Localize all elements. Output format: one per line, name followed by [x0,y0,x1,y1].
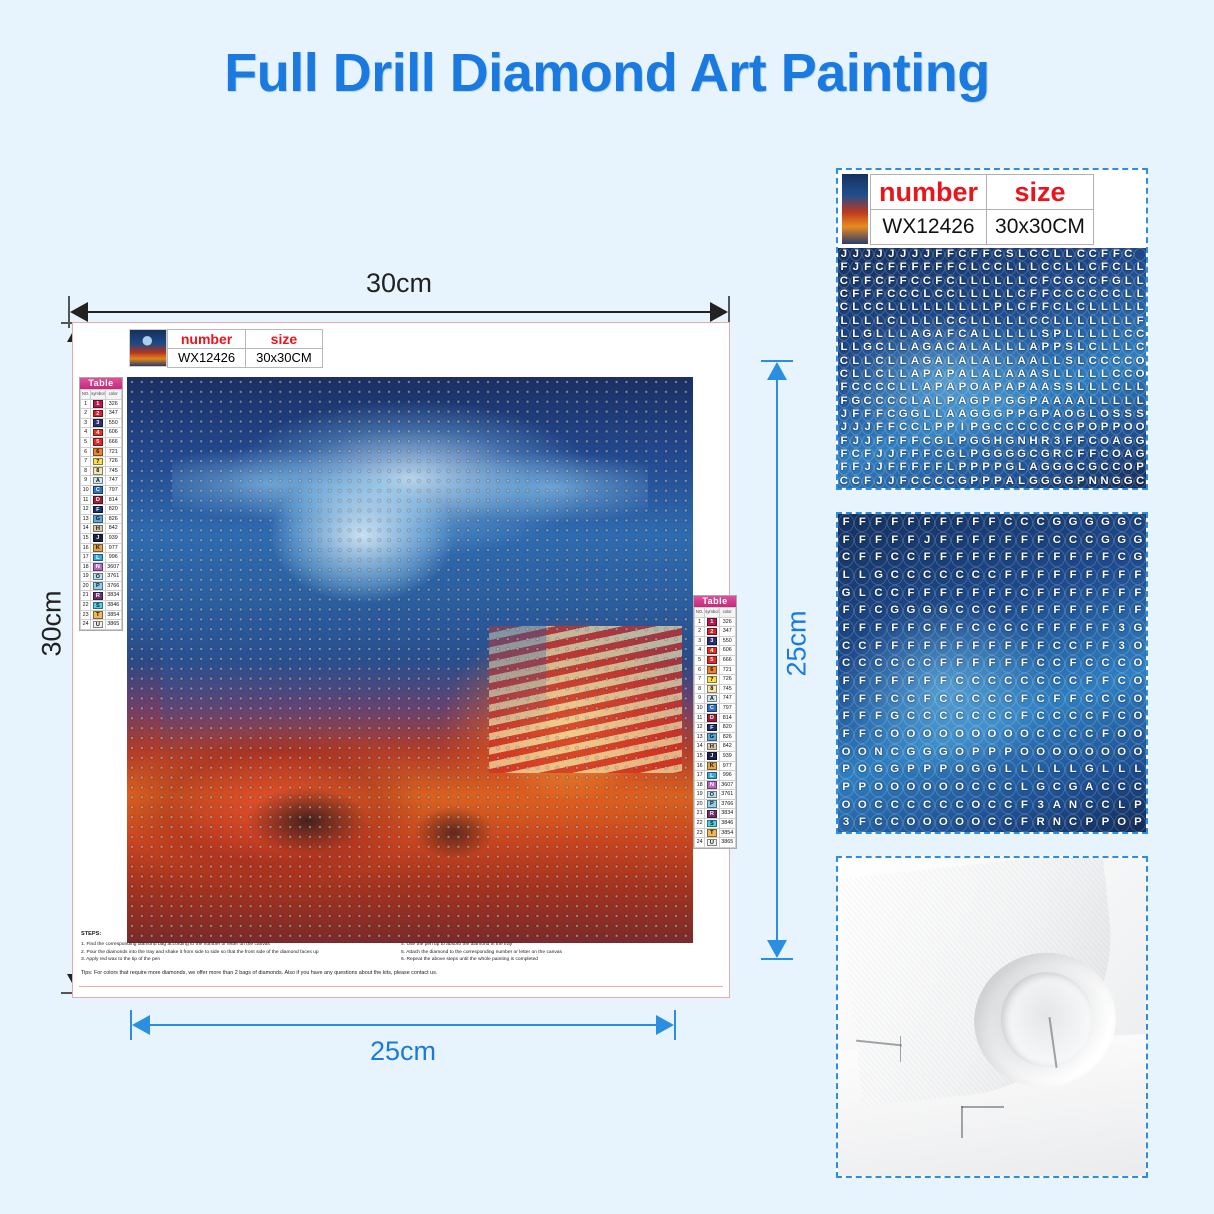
canvas-symbol-cell: C [1099,355,1111,368]
canvas-symbol-cell: P [1110,421,1122,434]
canvas-symbol-cell: F [838,514,854,532]
canvas-symbol-cell: F [921,461,933,474]
canvas-symbol-cell: C [984,797,1000,815]
canvas-symbol-cell: F [903,585,919,603]
canvas-symbol-cell: L [921,421,933,434]
legend-body-right: NO.symbolcolor11326223473355044606556666… [695,608,736,848]
canvas-symbol-cell: C [1033,673,1049,691]
canvas-symbol-cell: F [968,655,984,673]
legend-symbol-chip: L [93,554,103,562]
canvas-symbol-cell: O [870,779,886,797]
canvas-symbol-cell: P [1130,814,1146,832]
legend-symbol: 3 [91,418,105,428]
canvas-symbol-cell: 3 [1114,620,1130,638]
canvas-symbol-cell: A [956,355,968,368]
canvas-seam [900,1036,902,1061]
canvas-symbol-cell: F [951,585,967,603]
arrow-down-icon [767,940,787,958]
canvas-symbol-cell: F [854,532,870,550]
canvas-symbol-cell: C [1000,620,1016,638]
canvas-symbol-cell: L [1016,461,1028,474]
canvas-symbol-cell: P [854,779,870,797]
canvas-symbol-cell: F [1097,638,1113,656]
canvas-symbol-cell: C [903,708,919,726]
legend-symbol-chip: S [93,602,103,610]
legend-symbol: U [705,838,719,848]
product-info-table-large: number size WX12426 30x30CM [870,174,1094,245]
canvas-symbol-cell: O [968,726,984,744]
canvas-symbol-cell: O [1134,355,1146,368]
canvas-symbol-cell: F [838,726,854,744]
canvas-symbol-cell: C [1049,708,1065,726]
legend-no: 24 [81,620,91,630]
legend-symbol-chip: 7 [707,676,717,684]
canvas-symbol-cell: C [1016,421,1028,434]
legend-no: 2 [81,409,91,419]
canvas-symbol-cell: F [838,691,854,709]
canvas-symbol-cell: G [1087,461,1099,474]
legend-symbol-chip: F [93,506,103,514]
canvas-symbol-cell: N [870,744,886,762]
canvas-symbol-cell: G [870,761,886,779]
canvas-symbol-cell: P [992,475,1004,488]
canvas-symbol-cell: O [854,744,870,762]
legend-row: 55666 [695,655,736,665]
canvas-symbol-cell: L [968,355,980,368]
legend-no: 8 [81,466,91,476]
legend-row: 11326 [81,399,122,409]
legend-column-header: symbol [705,608,719,618]
legend-symbol: K [91,543,105,553]
canvas-symbol-cell: C [909,421,921,434]
canvas-symbol-cell: L [1110,315,1122,328]
canvas-symbol-cell: C [1097,797,1113,815]
arrow-left-icon [132,1015,150,1035]
canvas-symbol-cell: F [1097,726,1113,744]
canvas-symbol-cell: O [1122,421,1134,434]
canvas-symbol-cell: C [1097,655,1113,673]
canvas-symbol-cell: C [887,549,903,567]
legend-symbol: G [705,732,719,742]
canvas-symbol-cell: L [1114,761,1130,779]
legend-row: 24U3865 [81,620,122,630]
canvas-symbol-cell: L [968,261,980,274]
dimension-outer-height-label: 30cm [37,564,68,684]
canvas-symbol-cell: C [1028,275,1040,288]
canvas-symbol-cell: O [1033,744,1049,762]
canvas-symbol-cell: F [1000,602,1016,620]
canvas-symbol-cell: L [992,328,1004,341]
legend-color-code: 3854 [719,828,736,838]
canvas-symbol-cell: F [887,514,903,532]
canvas-symbol-cell: C [984,673,1000,691]
canvas-symbol-cell: L [850,315,862,328]
canvas-symbol-cell: P [956,461,968,474]
legend-symbol: 2 [705,627,719,637]
canvas-symbol-cell: A [1051,408,1063,421]
detail-panel-blank-canvas [836,856,1148,1178]
table-value-size: 30x30CM [987,209,1094,244]
canvas-symbol-cell: F [887,532,903,550]
canvas-symbol-cell: L [885,355,897,368]
canvas-symbol-cell: C [1087,288,1099,301]
canvas-symbol-cell: C [870,726,886,744]
legend-color-code: 3834 [105,591,122,601]
canvas-symbol-cell: P [1097,814,1113,832]
canvas-symbol-cell: P [935,761,951,779]
instruction-step: 6. Repeat the above steps until the whol… [401,956,721,963]
canvas-symbol-cell: L [921,288,933,301]
canvas-symbol-cell: P [1081,814,1097,832]
canvas-symbol-cell: F [885,461,897,474]
legend-no: 15 [695,751,705,761]
canvas-symbol-cell: C [1081,726,1097,744]
canvas-symbol-cell: A [1075,395,1087,408]
canvas-symbol-cell: G [1134,435,1146,448]
canvas-symbol-cell: L [897,381,909,394]
canvas-symbol-cell: F [1033,549,1049,567]
canvas-symbol-cell: L [1063,328,1075,341]
canvas-symbol-cell: F [838,673,854,691]
canvas-symbol-cell: I [956,421,968,434]
canvas-symbol-cell: P [968,475,980,488]
legend-symbol-chip: J [707,752,717,760]
legend-color-code: 814 [719,713,736,723]
legend-symbol: 6 [705,665,719,675]
dimension-outer-width: 30cm [68,268,730,330]
legend-symbol-chip: 3 [93,419,103,427]
canvas-symbol-cell: L [909,301,921,314]
canvas-symbol-cell: F [1049,602,1065,620]
canvas-symbol-cell: J [850,261,862,274]
canvas-symbol-cell: L [980,301,992,314]
canvas-symbol-cell: C [1122,328,1134,341]
canvas-symbol-cell: S [1039,368,1051,381]
canvas-symbol-cell: C [1033,655,1049,673]
canvas-symbol-cell: C [1130,779,1146,797]
canvas-symbol-cell: A [1028,381,1040,394]
legend-row: 18N3607 [695,780,736,790]
canvas-symbol-cell: O [1130,691,1146,709]
canvas-symbol-cell: O [1130,744,1146,762]
legend-symbol-chip: 1 [707,618,717,626]
legend-color-code: 977 [105,543,122,553]
legend-row: 11D814 [695,713,736,723]
canvas-symbol-cell: L [1099,328,1111,341]
canvas-symbol-cell: A [933,328,945,341]
canvas-symbol-cell: L [1110,341,1122,354]
canvas-symbol-cell: F [1114,585,1130,603]
canvas-symbol-cell: L [1134,381,1146,394]
canvas-symbol-cell: C [935,691,951,709]
canvas-symbol-cell: O [1114,814,1130,832]
table-value-number: WX12426 [871,209,987,244]
canvas-symbol-cell: L [1016,248,1028,261]
canvas-symbol-cell: L [921,301,933,314]
canvas-symbol-cell: C [984,814,1000,832]
canvas-symbol-cell: F [854,814,870,832]
canvas-symbol-cell: C [1028,448,1040,461]
canvas-symbol-cell: F [1097,708,1113,726]
legend-symbol: F [91,505,105,515]
canvas-symbol-cell: L [862,368,874,381]
canvas-symbol-cell: O [1110,448,1122,461]
arrow-right-icon [656,1015,674,1035]
canvas-symbol-cell: C [1065,638,1081,656]
canvas-symbol-cell: F [1097,602,1113,620]
canvas-symbol-cell: C [874,341,886,354]
legend-symbol-chip: T [93,611,103,619]
legend-symbol-chip: 4 [707,647,717,655]
canvas-symbol-cell: L [850,341,862,354]
canvas-symbol-cell: F [1065,691,1081,709]
product-info-table: number size WX12426 30x30CM [167,329,323,368]
canvas-symbol-cell: L [1099,301,1111,314]
canvas-symbol-cell: F [935,638,951,656]
canvas-symbol-cell: G [870,567,886,585]
legend-title: Table [694,596,736,607]
dimension-line [140,1024,666,1026]
canvas-symbol-cell: L [1099,315,1111,328]
canvas-symbol-cell: C [1134,475,1146,488]
canvas-symbol-cell: S [1122,408,1134,421]
canvas-symbol-cell: C [885,381,897,394]
canvas-symbol-cell: C [1000,673,1016,691]
canvas-symbol-cell: G [1039,475,1051,488]
canvas-symbol-cell: F [1033,532,1049,550]
canvas-symbol-cell: F [1049,585,1065,603]
canvas-symbol-cell: P [945,421,957,434]
canvas-symbol-cell: G [887,761,903,779]
canvas-symbol-cell: G [1114,514,1130,532]
canvas-symbol-cell: C [919,655,935,673]
canvas-symbol-cell: C [909,288,921,301]
canvas-symbol-cell: F [1000,585,1016,603]
legend-no: 7 [81,457,91,467]
canvas-symbol-cell: L [1065,761,1081,779]
legend-symbol: O [91,572,105,582]
dimension-canvas-height-label: 25cm [782,589,813,699]
legend-row: 23T3854 [81,610,122,620]
canvas-symbol-cell: C [887,814,903,832]
legend-table: NO.symbolcolor11326223473355044606556666… [694,607,736,848]
canvas-symbol-cell: P [903,761,919,779]
canvas-symbol-cell: G [1130,620,1146,638]
legend-no: 17 [81,553,91,563]
canvas-symbol-cell: C [1016,585,1032,603]
canvas-symbol-cell: L [945,301,957,314]
canvas-symbol-cell: F [1065,567,1081,585]
canvas-symbol-cell: C [862,381,874,394]
canvas-symbol-cell: F [951,549,967,567]
canvas-symbol-cell: F [935,514,951,532]
legend-row: 44606 [81,428,122,438]
legend-symbol-chip: H [707,743,717,751]
canvas-symbol-cell: F [1081,585,1097,603]
legend-color-code: 996 [719,771,736,781]
canvas-symbol-cell: F [919,549,935,567]
canvas-symbol-cell: G [1028,475,1040,488]
dimension-line [78,311,720,313]
canvas-symbol-cell: C [1081,797,1097,815]
canvas-symbol-cell: L [885,328,897,341]
legend-symbol-chip: G [707,733,717,741]
canvas-symbol-cell: L [1134,261,1146,274]
legend-row: 13G826 [695,732,736,742]
legend-symbol-chip: 8 [93,467,103,475]
canvas-symbol-cell: P [956,381,968,394]
canvas-symbol-cell: L [980,275,992,288]
canvas-symbol-cell: C [1134,328,1146,341]
canvas-symbol-cell: C [1097,779,1113,797]
legend-no: 4 [81,428,91,438]
canvas-symbol-cell: C [903,567,919,585]
canvas-symbol-cell: O [887,726,903,744]
canvas-symbol-cell: L [1004,355,1016,368]
canvas-symbol-cell: C [945,288,957,301]
canvas-symbol-cell: L [1099,368,1111,381]
canvas-symbol-cell: N [1016,435,1028,448]
canvas-symbol-cell: F [909,435,921,448]
canvas-symbol-cell: C [921,275,933,288]
legend-row: 13G826 [81,514,122,524]
steps-list-left: 1. Find the corresponding diamond bag ac… [81,941,401,963]
canvas-symbol-cell: A [956,368,968,381]
canvas-symbol-cell: C [1016,620,1032,638]
canvas-symbol-cell: F [1081,567,1097,585]
canvas-symbol-cell: F [870,638,886,656]
legend-symbol-chip: 1 [93,400,103,408]
canvas-symbol-cell: F [885,435,897,448]
legend-symbol-chip: R [93,592,103,600]
canvas-symbol-cell: L [862,355,874,368]
canvas-symbol-cell: C [1110,381,1122,394]
canvas-symbol-cell: L [838,567,854,585]
canvas-symbol-cell: C [870,797,886,815]
canvas-symbol-cell: F [1016,532,1032,550]
canvas-symbol-cell: A [945,381,957,394]
canvas-symbol-cell: L [897,368,909,381]
canvas-symbol-cell: L [968,301,980,314]
canvas-symbol-cell: F [1081,673,1097,691]
canvas-symbol-cell: F [838,708,854,726]
canvas-symbol-cell: L [1134,288,1146,301]
canvas-symbol-cell: L [897,315,909,328]
table-header-number: number [168,330,246,349]
dimension-canvas-width: 25cm [130,1008,676,1074]
canvas-symbol-cell: C [874,301,886,314]
canvas-symbol-cell: G [921,328,933,341]
legend-symbol: T [91,610,105,620]
canvas-symbol-cell: P [1000,744,1016,762]
canvas-symbol-cell: G [921,355,933,368]
instructions-column-left: 1. Find the corresponding diamond bag ac… [81,941,401,963]
legend-symbol-chip: S [707,820,717,828]
legend-symbol-chip: A [93,477,103,485]
canvas-symbol-cell: L [992,275,1004,288]
canvas-symbol-cell: P [1134,461,1146,474]
canvas-symbol-cell: F [887,620,903,638]
canvas-symbol-cell: O [919,814,935,832]
legend-row: 22S3846 [695,819,736,829]
canvas-symbol-cell: O [1114,744,1130,762]
legend-symbol: C [91,485,105,495]
legend-color-code: 550 [105,418,122,428]
instructions-heading: STEPS: [81,931,721,938]
canvas-symbol-cell: F [897,475,909,488]
canvas-symbol-cell: P [933,421,945,434]
canvas-symbol-cell: O [1065,744,1081,762]
canvas-symbol-cell: L [1075,381,1087,394]
canvas-symbol-cell: G [850,395,862,408]
legend-row: 10C797 [695,703,736,713]
canvas-symbol-cell: A [1028,355,1040,368]
canvas-symbol-cell: G [1028,408,1040,421]
legend-no: 16 [695,761,705,771]
canvas-symbol-cell: C [850,475,862,488]
canvas-symbol-cell: L [1110,328,1122,341]
legend-row: 66721 [81,447,122,457]
canvas-symbol-cell: C [870,602,886,620]
legend-row: 15J939 [695,751,736,761]
canvas-symbol-cell: L [1075,261,1087,274]
canvas-symbol-cell: F [935,532,951,550]
canvas-symbol-cell: G [992,408,1004,421]
legend-row: 88745 [695,684,736,694]
canvas-symbol-cell: J [921,248,933,261]
canvas-symbol-cell: C [1122,368,1134,381]
canvas-symbol-cell: F [854,726,870,744]
legend-row: 20P3766 [81,581,122,591]
canvas-symbol-cell: J [885,248,897,261]
canvas-symbol-cell: J [874,248,886,261]
canvas-symbol-cell: G [1122,475,1134,488]
canvas-symbol-cell: A [933,341,945,354]
canvas-symbol-cell: O [919,779,935,797]
canvas-symbol-cell: L [1122,381,1134,394]
legend-symbol-chip: O [707,791,717,799]
legend-color-code: 3846 [105,601,122,611]
canvas-symbol-cell: J [862,461,874,474]
legend-color-code: 3607 [719,780,736,790]
legend-column-header: color [105,390,122,400]
table-header-size: size [987,174,1094,209]
canvas-symbol-cell: F [909,261,921,274]
canvas-symbol-cell: C [874,395,886,408]
legend-color-code: 3834 [719,809,736,819]
legend-symbol: R [91,591,105,601]
canvas-symbol-cell: A [980,368,992,381]
legend-symbol: 6 [91,447,105,457]
canvas-symbol-cell: O [1016,744,1032,762]
legend-color-code: 3761 [105,572,122,582]
canvas-symbol-cell: L [1087,381,1099,394]
canvas-symbol-cell: F [1081,638,1097,656]
legend-symbol-chip: J [93,534,103,542]
canvas-symbol-cell: C [1049,532,1065,550]
legend-symbol-chip: 2 [93,410,103,418]
legend-column-header: color [719,608,736,618]
canvas-symbol-cell: G [968,761,984,779]
canvas-symbol-cell: L [1122,341,1134,354]
canvas-symbol-cell: L [1051,355,1063,368]
legend-row: 10C797 [81,485,122,495]
canvas-symbol-cell: F [1081,620,1097,638]
canvas-symbol-cell: F [919,673,935,691]
legend-symbol: D [705,713,719,723]
legend-symbol: 8 [91,466,105,476]
canvas-symbol-cell: O [951,761,967,779]
